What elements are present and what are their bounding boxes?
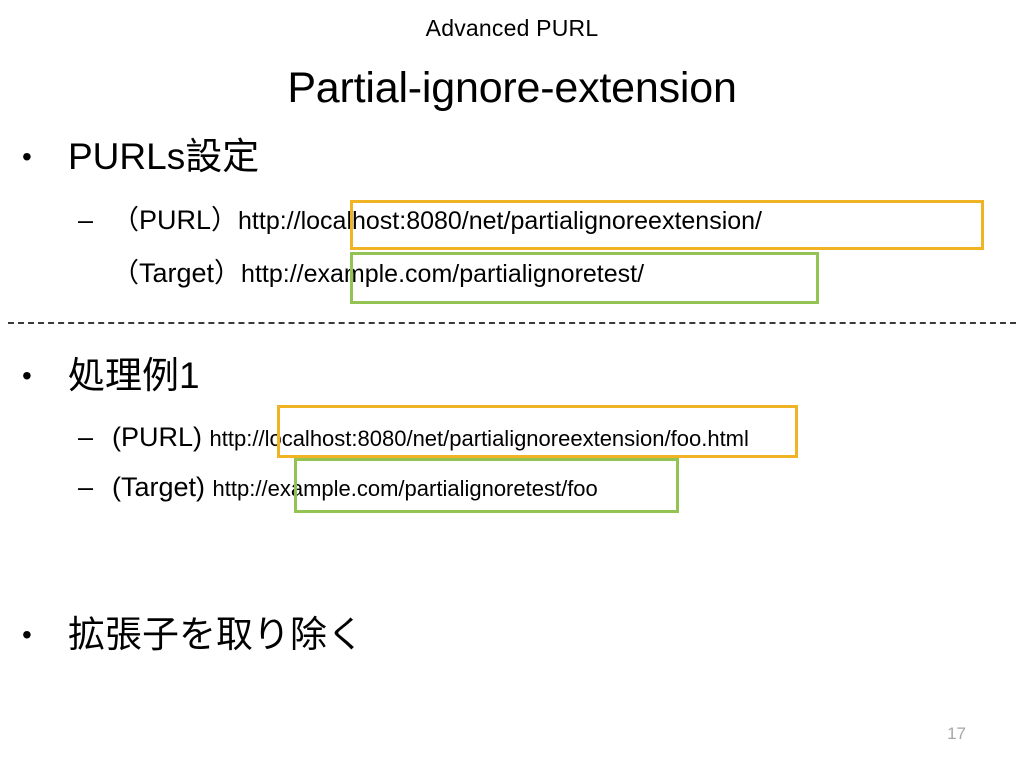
section-divider	[8, 322, 1016, 324]
sub-bullet-dash-icon: –	[78, 203, 112, 237]
sub-bullet-dash-icon: –	[78, 420, 112, 454]
example-target-highlighted: example.com/partialignoretest/	[268, 476, 568, 501]
settings-purl-prefix: http://	[238, 207, 301, 235]
example-purl-label: (PURL)	[112, 422, 202, 452]
example-target-suffix: foo	[567, 476, 598, 501]
page-title: Partial-ignore-extension	[0, 62, 1024, 114]
settings-purl-row: –（PURL）http://localhost:8080/net/partial…	[78, 203, 762, 238]
settings-target-row: （Target）http://example.com/partialignore…	[112, 256, 644, 291]
settings-target-highlighted: example.com/partialignoretest/	[304, 260, 644, 288]
example-purl-highlighted: localhost:8080/net/partialignoreextensio…	[265, 426, 671, 451]
example-target-row: –(Target) http://example.com/partialigno…	[78, 470, 598, 506]
bullet-conclusion: •拡張子を取り除く	[22, 612, 364, 658]
sub-bullet-dash-icon: –	[78, 470, 112, 504]
bullet-purls-settings-label: PURLs設定	[68, 136, 259, 177]
page-number: 17	[947, 724, 966, 744]
settings-purl-label: （PURL）	[112, 205, 238, 235]
bullet-conclusion-label: 拡張子を取り除く	[68, 614, 364, 655]
example-purl-prefix: http://	[210, 426, 265, 451]
bullet-purls-settings: •PURLs設定	[22, 134, 259, 180]
example-purl-row: –(PURL) http://localhost:8080/net/partia…	[78, 420, 749, 456]
bullet-dot-icon: •	[22, 134, 68, 180]
bullet-example-heading: •処理例1	[22, 353, 200, 399]
bullet-example-label: 処理例1	[68, 355, 200, 396]
example-target-prefix: http://	[213, 476, 268, 501]
example-target-label: (Target)	[112, 472, 205, 502]
bullet-dot-icon: •	[22, 612, 68, 658]
bullet-dot-icon: •	[22, 353, 68, 399]
slide-canvas: Advanced PURL Partial-ignore-extension •…	[0, 0, 1024, 768]
example-purl-suffix: foo.html	[671, 426, 749, 451]
settings-target-label: （Target）	[112, 258, 241, 288]
slide-kicker: Advanced PURL	[0, 14, 1024, 42]
settings-purl-highlighted: localhost:8080/net/partialignoreextensio…	[301, 207, 762, 235]
settings-target-prefix: http://	[241, 260, 304, 288]
